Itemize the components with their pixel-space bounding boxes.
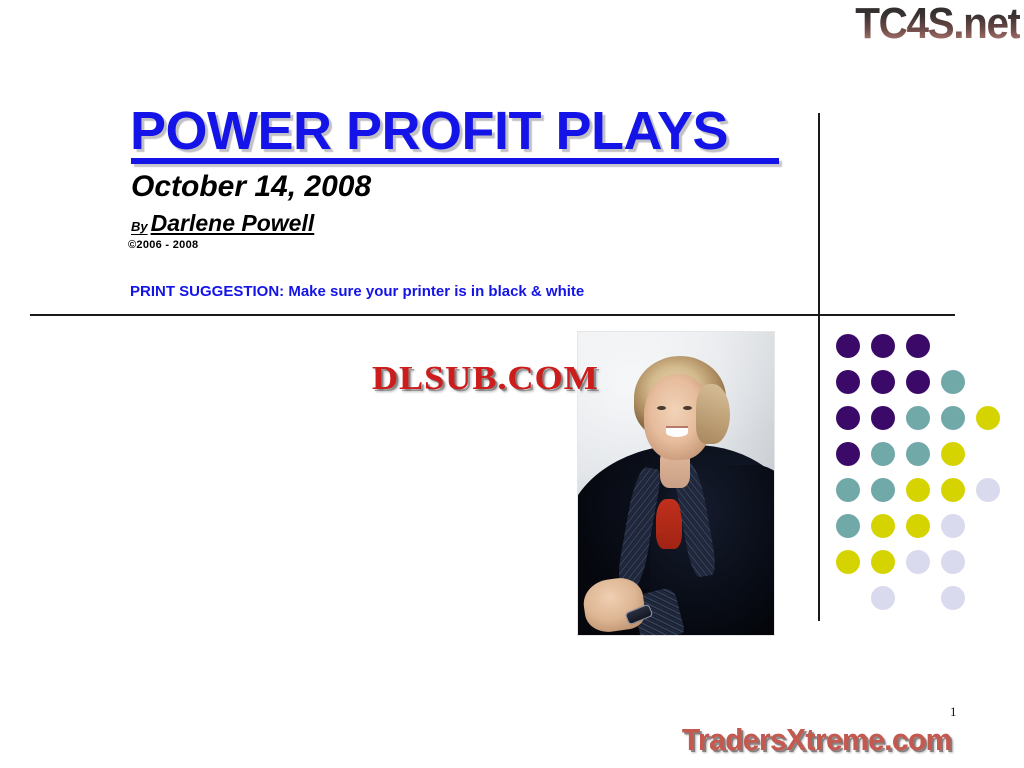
dot-grid-dot — [871, 406, 895, 430]
byline-author-name: Darlene Powell — [151, 210, 315, 236]
dot-grid-dot — [976, 478, 1000, 502]
dot-grid-dot — [871, 478, 895, 502]
dot-grid-dot — [906, 442, 930, 466]
dot-grid-dot — [871, 550, 895, 574]
dot-grid-dot — [836, 442, 860, 466]
page-number: 1 — [950, 704, 957, 720]
dot-grid-dot — [836, 514, 860, 538]
slide-canvas: TC4S.net POWER PROFIT PLAYS October 14, … — [0, 0, 1024, 768]
dot-grid-dot — [871, 586, 895, 610]
print-suggestion-note: PRINT SUGGESTION: Make sure your printer… — [130, 283, 584, 300]
dot-grid-dot — [906, 514, 930, 538]
dot-grid-dot — [941, 370, 965, 394]
dot-grid-dot — [941, 550, 965, 574]
dot-grid-dot — [836, 406, 860, 430]
photo-smile-shape — [666, 428, 688, 437]
dlsub-watermark: DLSUB.COM — [372, 360, 599, 398]
copyright-notice: ©2006 - 2008 — [128, 239, 198, 251]
dot-grid-dot — [906, 370, 930, 394]
tc4s-brand-logo: TC4S.net — [856, 2, 1020, 46]
page-title-underline — [131, 158, 779, 164]
dot-grid-dot — [836, 550, 860, 574]
photo-red-top-shape — [656, 499, 682, 549]
dot-grid-dot — [906, 550, 930, 574]
photo-hair-side-shape — [696, 384, 730, 444]
dot-grid-dot — [836, 370, 860, 394]
dot-grid-dot — [836, 478, 860, 502]
horizontal-divider — [30, 314, 955, 316]
tradersxtreme-brand-logo: TradersXtreme.com — [682, 722, 952, 758]
dot-grid-dot — [906, 478, 930, 502]
page-title: POWER PROFIT PLAYS — [130, 104, 728, 159]
dot-grid-dot — [941, 406, 965, 430]
dot-grid-dot — [941, 586, 965, 610]
byline: ByDarlene Powell — [131, 212, 314, 235]
dot-grid-dot — [871, 334, 895, 358]
dot-grid-dot — [906, 406, 930, 430]
dot-grid-dot — [976, 406, 1000, 430]
dot-grid-dot — [871, 370, 895, 394]
presenter-photo — [578, 332, 774, 635]
photo-eye-left-shape — [657, 406, 666, 410]
dot-grid-dot — [941, 442, 965, 466]
dot-grid-dot — [871, 442, 895, 466]
dot-grid-dot — [941, 478, 965, 502]
dot-grid-dot — [871, 514, 895, 538]
photo-eye-right-shape — [683, 406, 692, 410]
dot-grid-dot — [836, 334, 860, 358]
byline-by-label: By — [131, 219, 148, 234]
dot-grid-dot — [941, 514, 965, 538]
dot-grid-dot — [906, 334, 930, 358]
vertical-divider — [818, 113, 820, 621]
decorative-dot-grid — [836, 334, 1000, 590]
presentation-date: October 14, 2008 — [131, 170, 371, 204]
